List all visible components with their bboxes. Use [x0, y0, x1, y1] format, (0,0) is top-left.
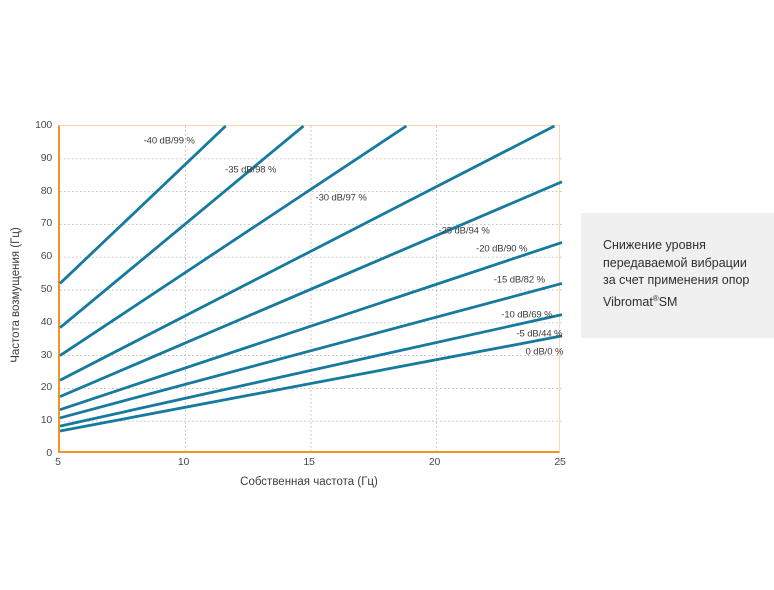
series-line — [60, 126, 303, 328]
caption-text: Снижение уровняпередаваемой вибрацииза с… — [603, 237, 763, 311]
series-line — [60, 315, 562, 427]
plot-frame: -40 dB/99 %-35 dB/98 %-30 dB/97 %-25 dB/… — [58, 125, 560, 453]
chart-area: 0102030405060708090100 -40 dB/99 %-35 dB… — [0, 0, 580, 520]
y-tick-label: 0 — [6, 447, 52, 459]
y-tick-label: 100 — [6, 119, 52, 131]
figure-root: 0102030405060708090100 -40 dB/99 %-35 dB… — [0, 0, 774, 590]
registered-mark-icon: ® — [653, 294, 659, 303]
series-label: -35 dB/98 % — [225, 165, 276, 176]
y-tick-label: 10 — [6, 414, 52, 426]
y-tick-label: 90 — [6, 152, 52, 164]
caption-brand: Vibromat®SM — [603, 290, 763, 312]
y-axis-title: Частота возмущения (Гц) — [10, 195, 22, 395]
x-tick-label: 5 — [55, 456, 61, 468]
x-tick-label: 10 — [178, 456, 189, 468]
x-axis-ticks: 510152025 — [58, 456, 560, 474]
series-line — [60, 182, 562, 397]
y-axis-ticks: 0102030405060708090100 — [0, 125, 52, 453]
series-label: -25 dB/94 % — [439, 225, 490, 236]
x-axis-title: Собственная частота (Гц) — [58, 476, 560, 488]
x-tick-label: 25 — [554, 456, 565, 468]
x-tick-label: 20 — [429, 456, 440, 468]
series-label: 0 dB/0 % — [526, 347, 564, 358]
caption-line: передаваемой вибрации — [603, 255, 763, 273]
caption-line: Снижение уровня — [603, 237, 763, 255]
series-label: -30 dB/97 % — [316, 193, 367, 204]
x-tick-label: 15 — [303, 456, 314, 468]
caption-line: за счет применения опор — [603, 272, 763, 290]
series-label: -20 dB/90 % — [476, 244, 527, 255]
data-lines — [60, 126, 562, 454]
series-label: -5 dB/44 % — [516, 329, 562, 340]
series-label: -40 dB/99 % — [144, 135, 195, 146]
series-label: -15 dB/82 % — [494, 275, 545, 286]
series-label: -10 dB/69 % — [501, 309, 552, 320]
caption-box: Снижение уровняпередаваемой вибрацииза с… — [581, 213, 774, 338]
